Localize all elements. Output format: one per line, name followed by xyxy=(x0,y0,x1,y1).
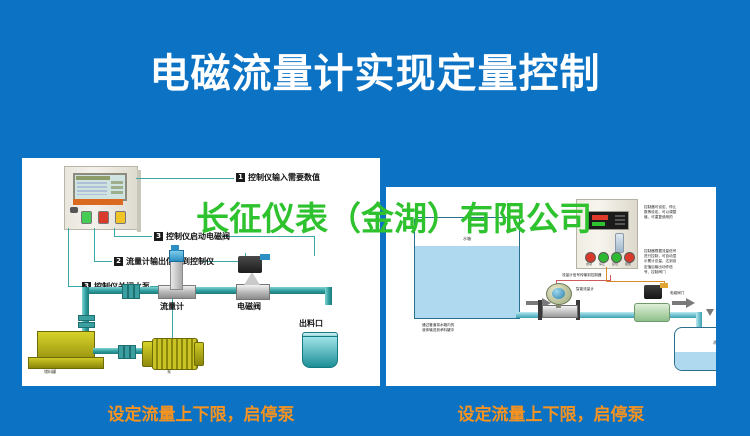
outlet-downpipe xyxy=(325,287,332,305)
caption-bar-right: 设定流量上下限，启停泵 xyxy=(386,392,716,432)
caption-left-text: 设定流量上下限，启停泵 xyxy=(108,400,295,425)
caption-right-text: 设定流量上下限，启停泵 xyxy=(458,400,645,425)
leader-2-h1 xyxy=(94,261,112,262)
flow-arrow-head-2 xyxy=(686,298,695,308)
screen-keypad xyxy=(111,181,123,195)
note-mid-right: 控制器根据流量信号 进行控制，可自动显 示累计总量，达到设 定值后输出动作信 号… xyxy=(644,249,710,275)
source-tank-label: 储料罐 xyxy=(44,369,56,375)
tank-liquid xyxy=(415,246,519,318)
leader-2-v xyxy=(94,228,95,261)
leader-3a-v xyxy=(114,228,115,236)
signal-line-valve-h xyxy=(606,281,664,282)
cabinet-button-label-4: 报警 xyxy=(623,262,633,266)
flowmeter-label: 流量计 xyxy=(160,301,184,312)
solenoid-valve-terminal xyxy=(260,254,270,260)
cabinet-button-yellow[interactable] xyxy=(115,211,126,224)
suction-flange xyxy=(130,345,136,359)
process-pipe-horizontal xyxy=(82,287,332,294)
annotation-3-solenoid: 3 控制仪启动电磁阀 xyxy=(154,231,230,242)
display-primary-value xyxy=(592,215,608,220)
right-diagram-panel: 水箱 启动 停止 复位 报警 控制器可设定、停止 数等设定 xyxy=(386,187,716,386)
title-band: 电磁流量计实现定量控制 xyxy=(0,0,750,148)
pipe-flange xyxy=(134,284,140,299)
leader-3b-h1 xyxy=(68,286,82,287)
leader-3a-h2 xyxy=(222,236,314,237)
pipe-route-note: 通过管道将水箱内的 液体输送到承料罐中 xyxy=(422,323,500,333)
flow-arrow-shaft-2 xyxy=(672,301,686,305)
signal-line-flowmeter-h xyxy=(556,280,610,281)
pump-rear-cap xyxy=(194,342,204,366)
left-diagram-panel: 1 控制仪输入需要数值 3 控制仪启动电磁阀 2 流量计输出信号到控制仪 xyxy=(22,158,380,386)
flowmeter-cap xyxy=(171,245,179,251)
check-valve xyxy=(78,315,95,321)
solenoid-valve-cone xyxy=(244,272,260,285)
receiving-tank-label: 承料罐 xyxy=(675,340,716,346)
flowmeter-signal-note: 流量计信号传输到控制器 xyxy=(562,273,602,278)
cabinet-selector-switch[interactable] xyxy=(615,233,624,253)
pump-motor xyxy=(152,338,198,370)
solenoid-valve-coil xyxy=(238,256,262,273)
display-indicator-dots xyxy=(615,215,625,226)
page-title: 电磁流量计实现定量控制 xyxy=(150,54,601,94)
cabinet-orange-strip xyxy=(73,199,123,205)
solenoid-valve-body xyxy=(236,284,270,300)
screen-header-bar xyxy=(76,176,110,180)
flowmeter-head xyxy=(169,250,184,262)
control-cabinet: 启动 停止 复位 报警 xyxy=(576,199,638,269)
annotation-number: 3 xyxy=(154,232,163,241)
left-diagram: 1 控制仪输入需要数值 3 控制仪启动电磁阀 2 流量计输出信号到控制仪 xyxy=(22,158,380,386)
source-tank-base xyxy=(28,357,104,369)
cabinet-button-label-1: 启动 xyxy=(584,262,594,266)
signal-line-valve-v1 xyxy=(606,267,607,281)
annotation-1: 1 控制仪输入需要数值 xyxy=(236,172,320,183)
annotation-number: 1 xyxy=(236,173,245,182)
receiving-tank-liquid xyxy=(675,352,716,370)
right-diagram: 水箱 启动 停止 复位 报警 控制器可设定、停止 数等设定 xyxy=(386,187,716,386)
leader-3b-v xyxy=(68,228,69,286)
annotation-text: 控制仪启动电磁阀 xyxy=(166,231,230,242)
cabinet-knob[interactable] xyxy=(70,207,78,213)
caption-bar-left: 设定流量上下限，启停泵 xyxy=(22,392,380,432)
outlet-label: 出料口 xyxy=(299,318,323,329)
display-secondary-value xyxy=(592,222,605,226)
flow-arrow-down xyxy=(706,309,714,316)
cabinet-button-label-3: 复位 xyxy=(610,262,620,266)
valve-device-label: 电磁阀门 xyxy=(670,291,684,296)
screen-text-lines xyxy=(77,182,107,195)
poster-root: 电磁流量计实现定量控制 1 xyxy=(0,0,750,436)
solenoid-valve-label: 电磁阀 xyxy=(237,301,261,312)
water-tank-label: 水箱 xyxy=(415,236,519,242)
flowmeter-display-lens xyxy=(552,288,565,299)
controller-screen xyxy=(73,173,127,201)
annotation-number: 2 xyxy=(114,257,123,266)
leader-line-1 xyxy=(136,178,234,179)
receiving-tank: 承料罐 xyxy=(674,327,716,371)
pump-label: 泵 xyxy=(167,369,171,375)
flowmeter-device-label: 智能流量计 xyxy=(576,287,594,292)
cabinet-button-red[interactable] xyxy=(98,211,109,224)
flowmeter-neck xyxy=(170,258,183,290)
leader-3a-v2 xyxy=(314,236,315,256)
outlet-jar xyxy=(302,336,338,368)
leader-3a-h1 xyxy=(114,236,152,237)
cabinet-button-green[interactable] xyxy=(81,211,92,224)
control-valve-terminal xyxy=(660,283,668,288)
cabinet-display xyxy=(587,211,629,230)
control-valve-body xyxy=(634,303,670,322)
note-top-right: 控制器可设定、停止 数等设定、可以调整 值、可重复使用的 xyxy=(644,205,708,221)
controller-cabinet xyxy=(64,166,138,230)
check-valve xyxy=(78,322,95,328)
annotation-text: 控制仪输入需要数值 xyxy=(248,172,320,183)
cabinet-button-label-2: 停止 xyxy=(597,262,607,266)
annotation-2: 2 流量计输出信号到控制仪 xyxy=(114,256,214,267)
water-tank: 水箱 xyxy=(414,217,520,319)
cabinet-side-shadow xyxy=(137,170,141,232)
